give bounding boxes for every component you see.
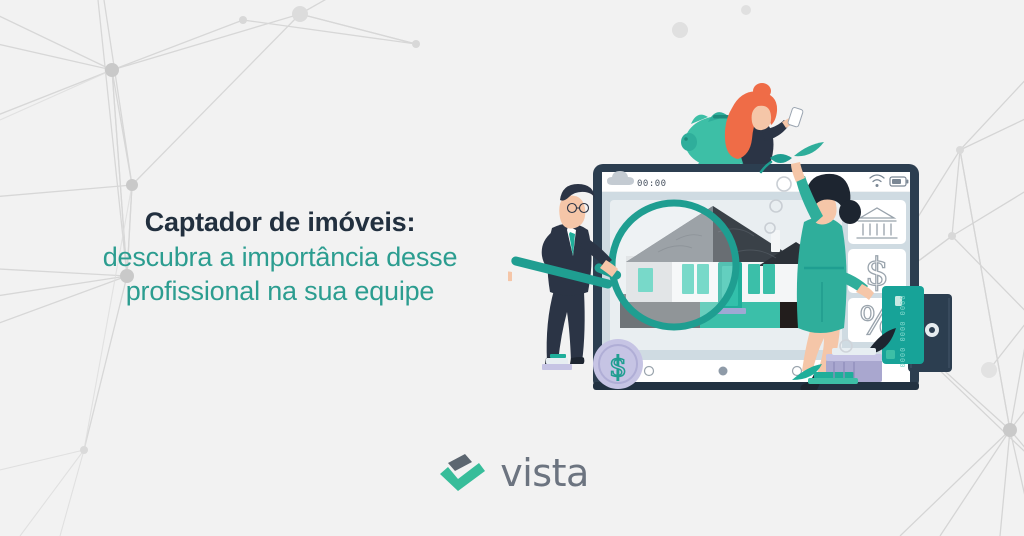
poster-canvas: Captador de imóveis: descubra a importân… — [0, 0, 1024, 536]
vista-wordmark: vista — [500, 454, 589, 492]
headline-line-1: Captador de imóveis: — [0, 205, 560, 240]
brand-logo[interactable]: vista — [0, 450, 1024, 494]
pagination-dot-2 — [719, 367, 728, 376]
headline-line-2: descubra a importância desse — [0, 240, 560, 275]
pagination-dot-1 — [645, 367, 654, 376]
vista-check-logo-icon — [435, 450, 487, 494]
headline-line-3: profissional na sua equipe — [0, 274, 560, 309]
credit-card: 0000 0000 0000 — [882, 286, 924, 369]
headline-block: Captador de imóveis: descubra a importân… — [0, 205, 560, 309]
illustration: 00:00 — [508, 72, 1024, 412]
statusbar-time: 00:00 — [637, 179, 667, 189]
svg-text:$: $ — [609, 350, 627, 383]
dollar-coin: $ — [593, 339, 643, 389]
svg-text:0000 0000 0000: 0000 0000 0000 — [898, 295, 906, 368]
book-stack-left — [542, 354, 572, 370]
